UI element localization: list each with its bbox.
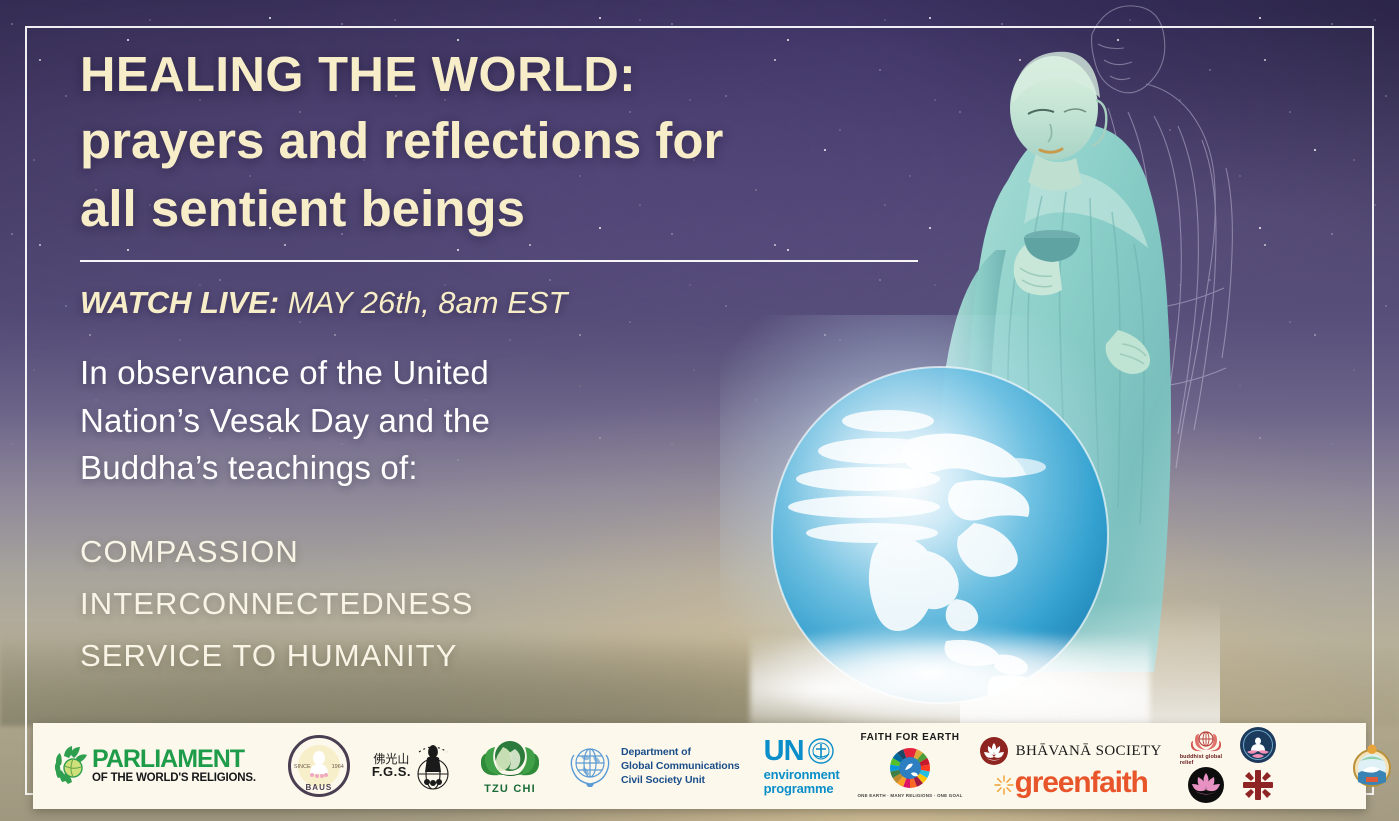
observance-line-2: Nation’s Vesak Day and the <box>80 397 960 445</box>
bhavana-society-name: BHĀVANĀ SOCIETY <box>1016 743 1162 760</box>
teaching-service-to-humanity: SERVICE TO HUMANITY <box>80 630 960 682</box>
lotus-institute-badge-icon <box>1187 766 1225 804</box>
greenfaith-name: greenfaith <box>1015 766 1148 799</box>
watch-live-details: MAY 26th, 8am EST <box>279 285 567 320</box>
fgs-english: F.G.S. <box>372 765 411 779</box>
watch-live-line: WATCH LIVE: MAY 26th, 8am EST <box>80 284 960 321</box>
headline-line-1: HEALING THE WORLD: <box>80 50 960 102</box>
unep-line-1: environment <box>764 768 840 783</box>
observance-line-3: Buddha’s teachings of: <box>80 444 960 492</box>
undgc-line-2: Global Communications <box>621 759 740 773</box>
un-emblem-icon <box>565 742 615 790</box>
logo-un-environment-programme[interactable]: UN environment programme <box>764 727 840 805</box>
caritas-cross-icon <box>1241 768 1275 802</box>
logo-buddhist-circle-badge[interactable] <box>1239 726 1277 769</box>
text-content: HEALING THE WORLD: prayers and reflectio… <box>80 50 960 682</box>
observance-text: In observance of the United Nation’s Ves… <box>80 349 960 492</box>
faith-for-earth-title: FAITH FOR EARTH <box>861 732 960 743</box>
teachings-list: COMPASSION INTERCONNECTEDNESS SERVICE TO… <box>80 526 960 682</box>
undgc-line-3: Civil Society Unit <box>621 773 740 787</box>
tzu-chi-lotus-globe-icon <box>481 737 539 781</box>
logo-caritas-cross[interactable] <box>1241 768 1275 807</box>
sdg-color-wheel-icon <box>887 745 933 791</box>
logo-parliament-of-the-worlds-religions[interactable]: PARLIAMENT OF THE WORLD'S RELIGIONS. <box>53 727 256 805</box>
divider-rule <box>80 260 918 262</box>
pwr-line-1: PARLIAMENT <box>92 747 256 772</box>
teaching-compassion: COMPASSION <box>80 526 960 578</box>
meditation-circle-badge-icon <box>1239 726 1277 764</box>
undgc-line-1: Department of <box>621 745 740 759</box>
baus-year: 1964 <box>332 764 344 770</box>
poster-root: HEALING THE WORLD: prayers and reflectio… <box>0 0 1399 821</box>
logo-faith-for-earth[interactable]: FAITH FOR EARTH <box>857 727 962 805</box>
logo-fo-guang-shan[interactable]: 佛光山 F.G.S. <box>372 727 453 805</box>
teaching-interconnectedness: INTERCONNECTEDNESS <box>80 578 960 630</box>
unep-line-2: programme <box>764 782 840 797</box>
logo-vedanta-placeholder <box>1309 747 1310 748</box>
logo-group-mini-badges[interactable]: buddhist global relief <box>1180 727 1336 805</box>
bgr-label: buddhist global relief <box>1180 754 1232 766</box>
logo-lotus-institute-badge[interactable] <box>1187 766 1225 809</box>
bgr-lotus-globe-icon <box>1189 729 1223 753</box>
vedanta-emblem-icon <box>1350 741 1394 791</box>
logo-group-bhavana-greenfaith[interactable]: BHĀVANĀ SOCIETY greenfaith <box>979 727 1162 805</box>
baus-since: SINCE <box>294 764 311 770</box>
fgs-buddha-globe-icon <box>413 740 453 792</box>
baus-label: BAUS <box>306 783 333 792</box>
greenfaith-sunburst-icon <box>993 774 1015 796</box>
watch-live-label: WATCH LIVE: <box>80 285 279 320</box>
sponsor-logo-bar: PARLIAMENT OF THE WORLD'S RELIGIONS. SIN… <box>33 723 1366 809</box>
headline-line-2: prayers and reflections for <box>80 112 960 170</box>
observance-line-1: In observance of the United <box>80 349 960 397</box>
bhavana-lotus-icon <box>979 736 1009 766</box>
faith-for-earth-subtitle: ONE EARTH · MANY RELIGIONS · ONE GOAL <box>857 793 962 799</box>
unep-un-text: UN <box>764 735 804 767</box>
logo-un-dgc-civil-society-unit[interactable]: Department of Global Communications Civi… <box>565 727 740 805</box>
logo-tzu-chi[interactable]: TZU CHI <box>481 727 539 805</box>
logo-baus[interactable]: SINCE 1964 BAUS <box>288 727 350 805</box>
baus-seal: SINCE 1964 BAUS <box>288 735 350 797</box>
pwr-line-2: OF THE WORLD'S RELIGIONS. <box>92 773 256 785</box>
logo-vedanta-society[interactable]: Vedanta Society of Southern California <box>1350 727 1399 805</box>
headline-line-3: all sentient beings <box>80 180 960 238</box>
tzu-chi-label: TZU CHI <box>484 783 536 795</box>
leaf-globe-icon <box>53 746 89 786</box>
logo-bhavana-society[interactable]: BHĀVANĀ SOCIETY <box>979 736 1162 766</box>
unep-emblem-icon <box>808 738 834 764</box>
logo-greenfaith[interactable]: greenfaith <box>993 769 1148 796</box>
logo-buddhist-global-relief[interactable]: buddhist global relief <box>1180 729 1232 766</box>
